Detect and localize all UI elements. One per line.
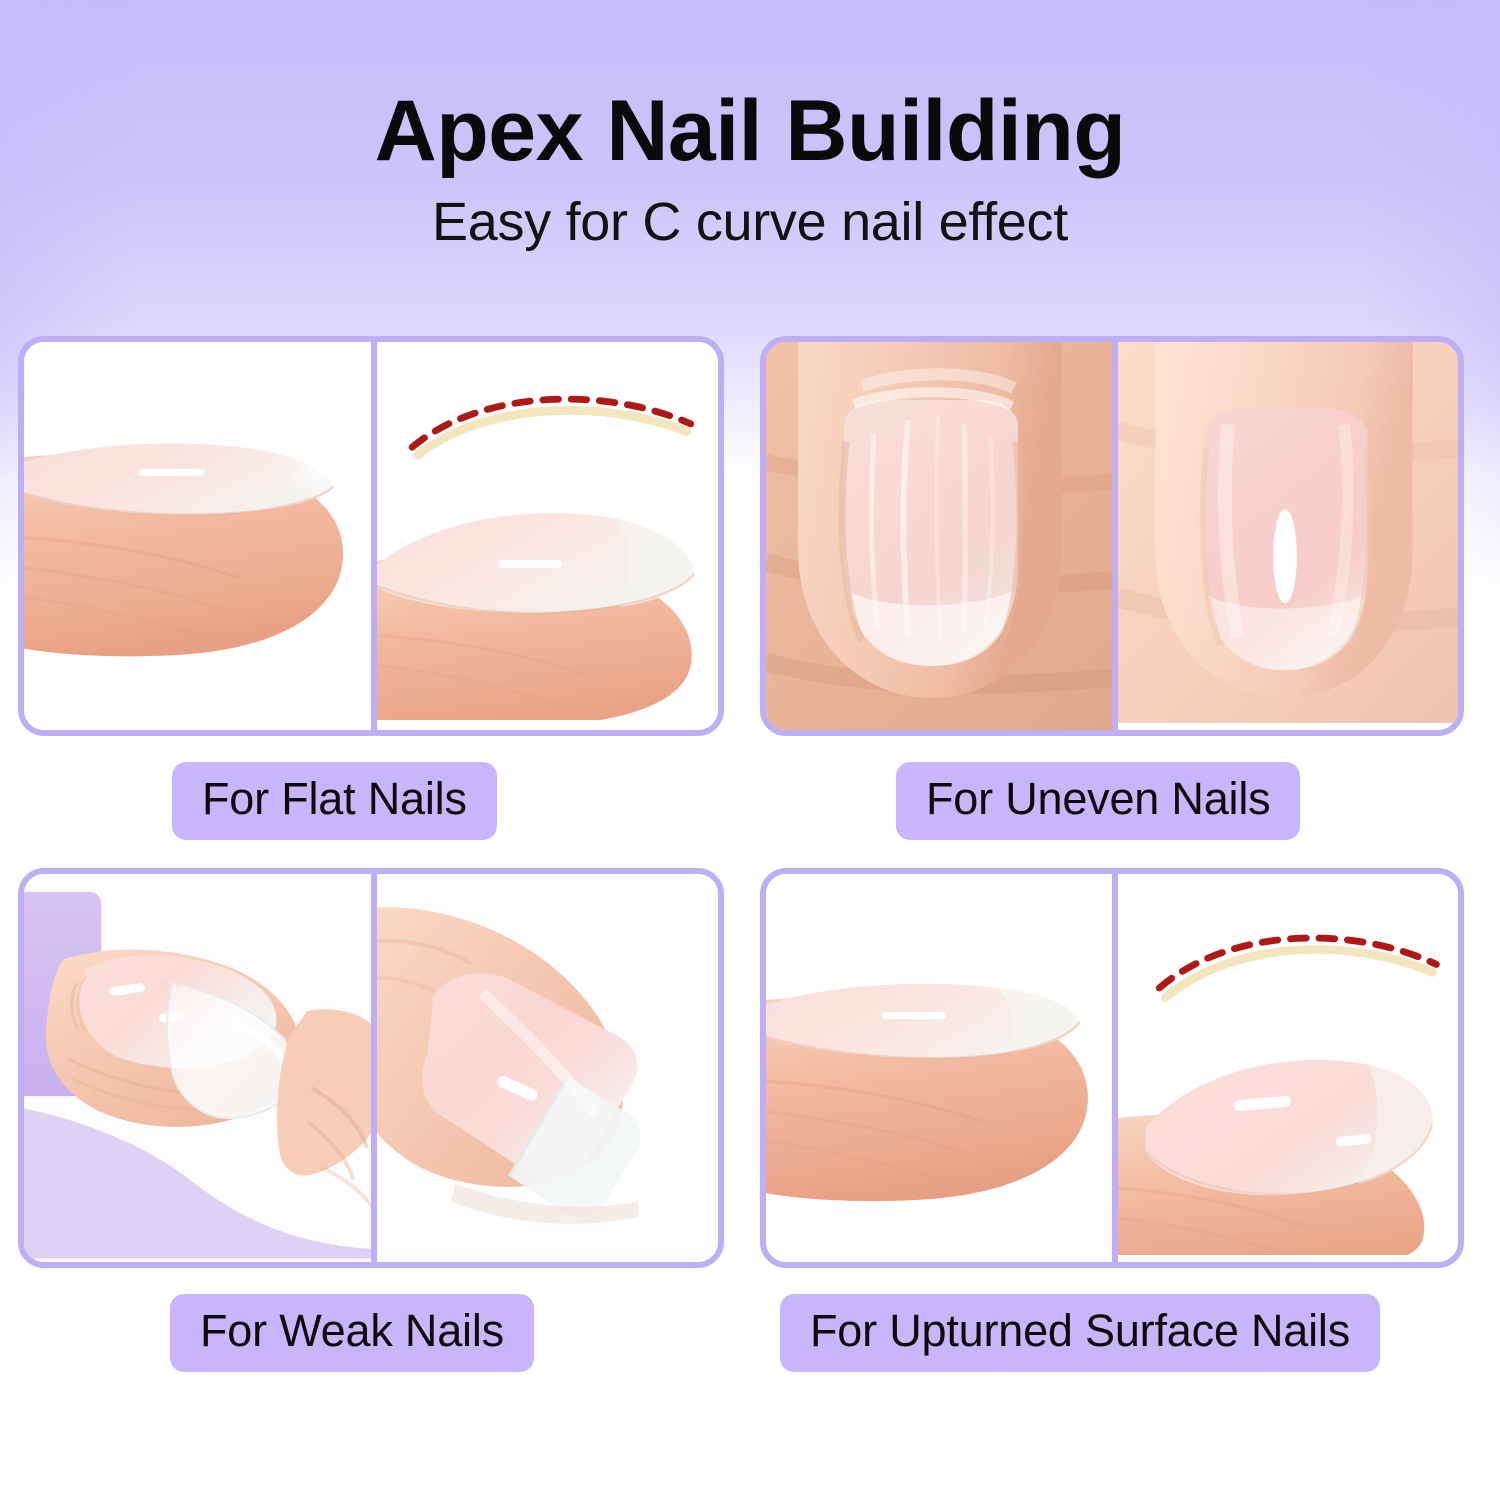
card-flat-nails (18, 336, 724, 736)
panel-upturned-after (1112, 874, 1458, 1262)
header: Apex Nail Building Easy for C curve nail… (0, 86, 1500, 253)
illustration-flat-nail-side-after (377, 342, 718, 720)
page-title: Apex Nail Building (0, 86, 1500, 177)
panel-flat-after (371, 342, 718, 730)
label-for-flat-nails: For Flat Nails (172, 762, 497, 840)
illustration-square-extension-nail (377, 874, 718, 1252)
illustration-uneven-nail-top-before (766, 342, 1112, 730)
label-for-upturned-surface-nails: For Upturned Surface Nails (780, 1294, 1380, 1372)
illustration-uneven-nail-top-after (1118, 342, 1458, 723)
label-for-weak-nails: For Weak Nails (170, 1294, 534, 1372)
illustration-upturned-nail-side-after (1118, 874, 1458, 1255)
illustration-nail-tip-application (24, 874, 371, 1259)
panel-uneven-after (1112, 342, 1458, 730)
card-uneven-nails (760, 336, 1464, 736)
panel-weak-application (24, 874, 371, 1262)
panel-weak-after (371, 874, 718, 1262)
nail-gloss-highlight (1273, 509, 1297, 603)
card-weak-nails (18, 868, 724, 1268)
page-subtitle: Easy for C curve nail effect (0, 191, 1500, 253)
panel-flat-before (24, 342, 371, 730)
panel-uneven-before (766, 342, 1112, 730)
label-for-uneven-nails: For Uneven Nails (896, 762, 1300, 840)
card-upturned-surface-nails (760, 868, 1464, 1268)
illustration-flat-nail-side-before (24, 342, 371, 727)
illustration-upturned-nail-side-before (766, 874, 1112, 1262)
panel-upturned-before (766, 874, 1112, 1262)
